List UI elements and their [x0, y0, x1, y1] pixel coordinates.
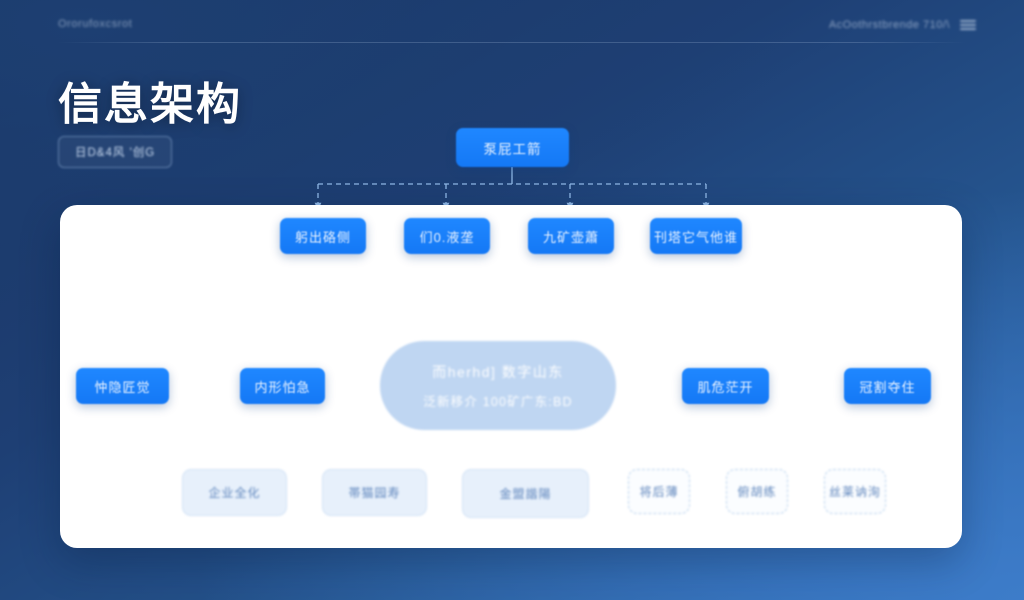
page-title: 信息架构 — [58, 68, 242, 132]
middle-node-4[interactable]: 冠割夺住 — [844, 368, 931, 404]
chip-6[interactable]: 丝莱讷洵 — [824, 469, 886, 514]
hamburger-menu-icon[interactable] — [960, 18, 976, 32]
center-hub-node[interactable]: 而herhd] 数字山东 泛新移介 100矿广东:BD — [380, 341, 616, 430]
center-hub-line1: 而herhd] 数字山东 — [432, 362, 564, 382]
header-right-label: AcOothrstbrende 710/\ — [829, 19, 950, 31]
process-node-2[interactable]: 们0.液垄 — [404, 218, 490, 254]
chip-1[interactable]: 企业全化 — [182, 469, 287, 516]
header-divider — [58, 42, 966, 43]
subtitle-badge: 日D&4风 '创G — [58, 136, 172, 168]
middle-node-2[interactable]: 内形怕急 — [240, 368, 325, 404]
process-node-1[interactable]: 躬出硌侧 — [280, 218, 366, 254]
center-hub-line2: 泛新移介 100矿广东:BD — [423, 391, 572, 410]
middle-node-1[interactable]: 忡隐匠觉 — [76, 368, 169, 404]
chip-4[interactable]: 将后薄 — [628, 469, 690, 514]
chip-5[interactable]: 俯胡练 — [726, 469, 788, 514]
chip-3[interactable]: 金盟諧陽 — [462, 469, 589, 518]
chip-2[interactable]: 帯猫园寿 — [322, 469, 427, 516]
root-node[interactable]: 泵屁工箭 — [456, 128, 569, 167]
process-node-3[interactable]: 九矿壶蕭 — [528, 218, 614, 254]
slide-canvas: Ororufoxcsrot AcOothrstbrende 710/\ 信息架构… — [0, 0, 1024, 600]
header-bar: Ororufoxcsrot AcOothrstbrende 710/\ — [0, 0, 1024, 46]
header-right-group: AcOothrstbrende 710/\ — [829, 18, 976, 32]
middle-node-3[interactable]: 肌危茫开 — [682, 368, 769, 404]
header-left-label: Ororufoxcsrot — [58, 18, 132, 30]
process-node-4[interactable]: 刊塔它气他谁 — [650, 218, 742, 254]
